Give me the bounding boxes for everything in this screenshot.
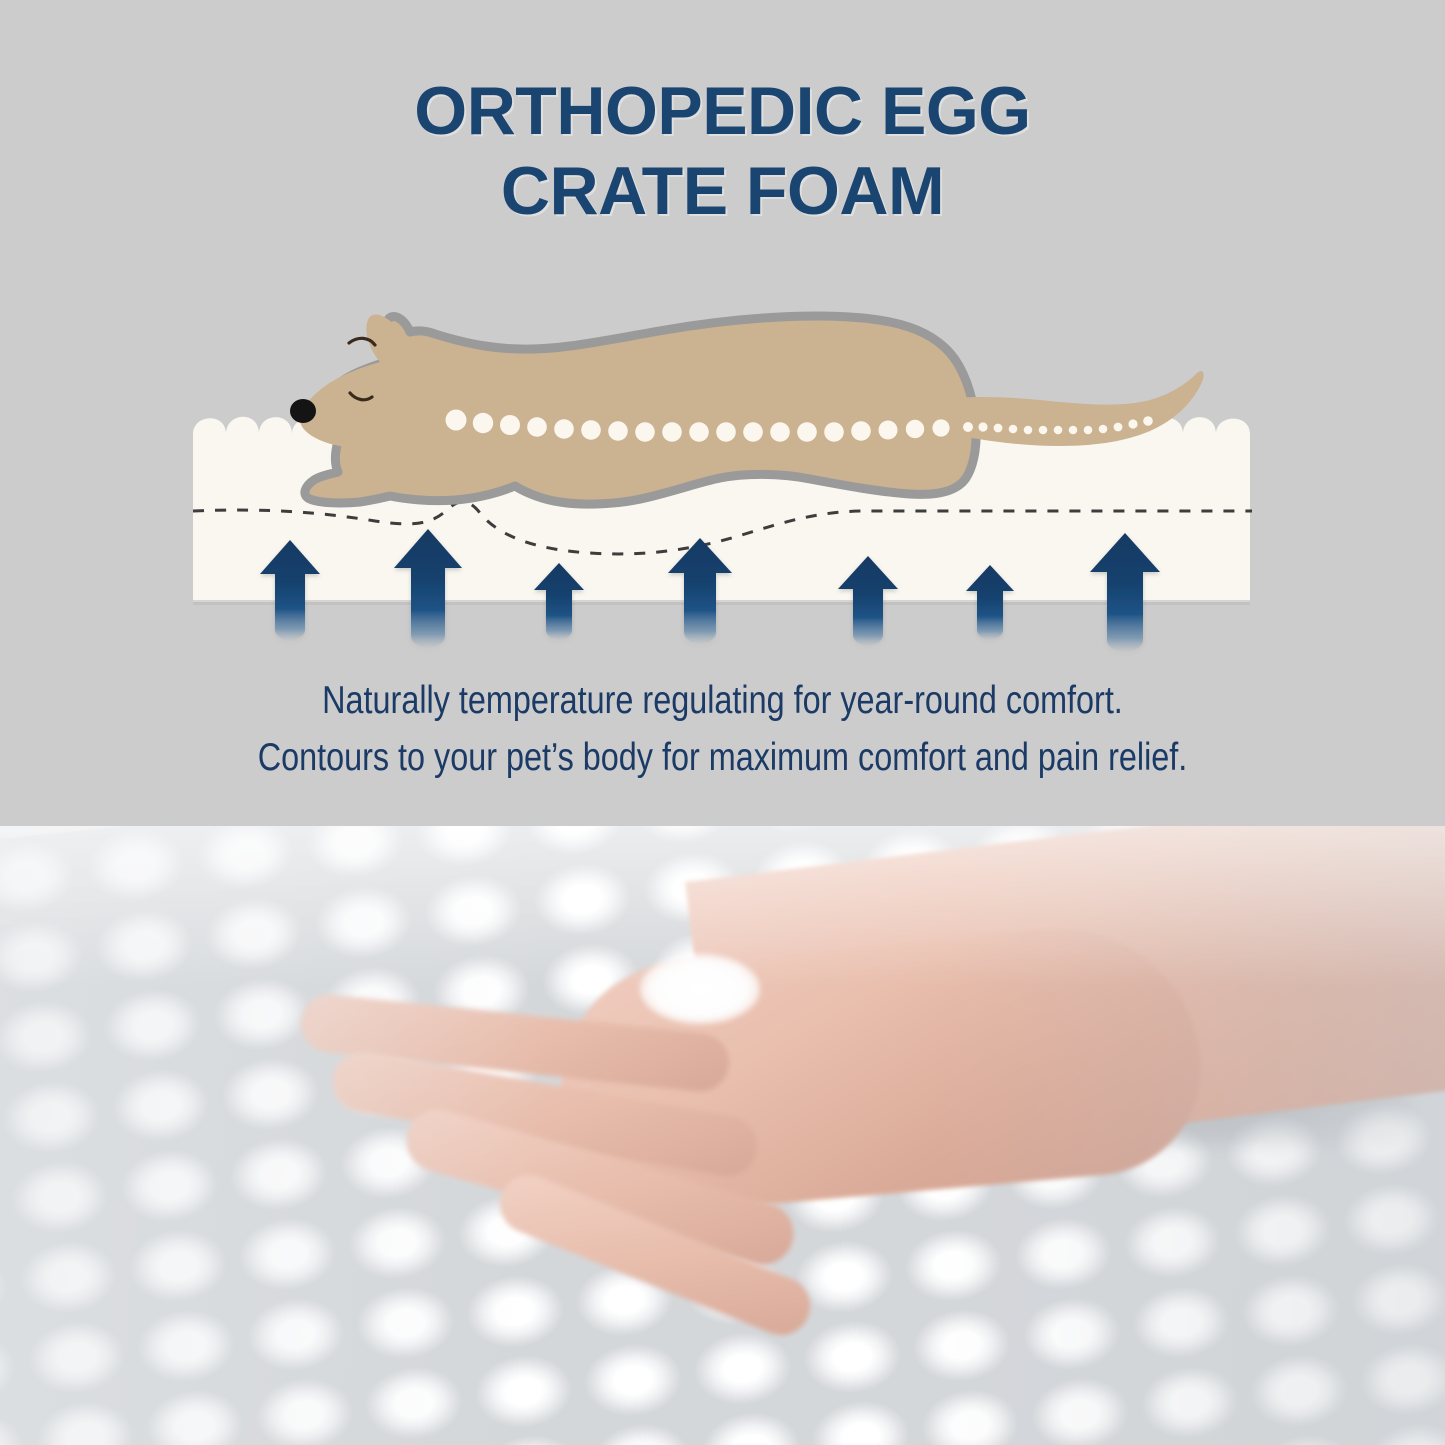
feature-description: Naturally temperature regulating for yea… [123, 672, 1322, 787]
feature-line-2: Contours to your pet’s body for maximum … [123, 729, 1322, 786]
foam-photo-content [0, 826, 1445, 1445]
product-feature-image: ORTHOPEDIC EGG CRATE FOAM [0, 0, 1445, 1445]
dog-head-shape [300, 315, 410, 449]
foam-lighting-overlay [0, 826, 1445, 1445]
feature-line-1: Naturally temperature regulating for yea… [123, 672, 1322, 729]
dog-nose [290, 399, 316, 423]
foam-base-shadow [193, 600, 1250, 605]
foam-photo [0, 826, 1445, 1445]
